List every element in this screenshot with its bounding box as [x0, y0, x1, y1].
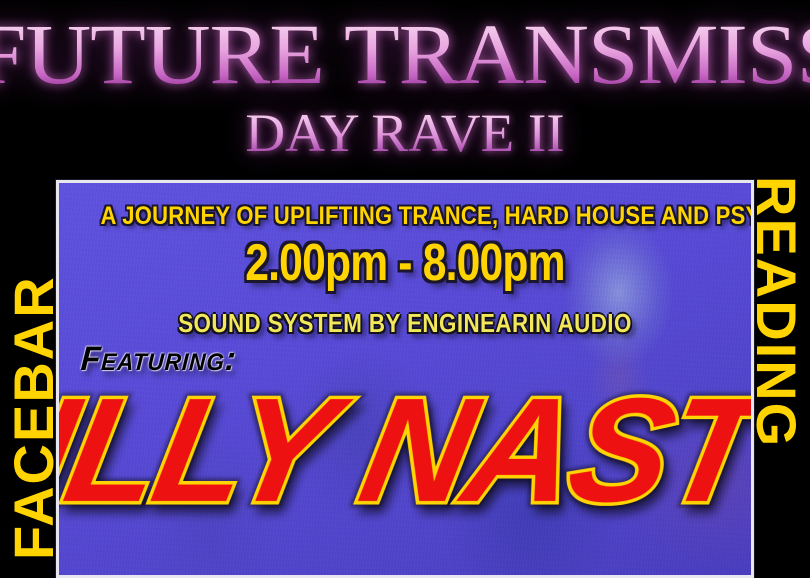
venue-strip-right: READING: [752, 160, 810, 578]
headline-artist-name: BILLY NASTY: [59, 373, 751, 529]
sound-system-credit: SOUND SYSTEM BY ENGINEARIN AUDIO: [107, 309, 702, 337]
venue-strip-left: FACEBAR: [0, 160, 58, 578]
event-subtitle: DAY RAVE II: [0, 104, 810, 162]
genre-tagline: A JOURNEY OF UPLIFTING TRANCE, HARD HOUS…: [101, 203, 710, 229]
venue-city-label: READING: [752, 176, 804, 576]
event-times: 2.00pm - 8.00pm: [121, 235, 688, 291]
venue-name-label: FACEBAR: [6, 160, 58, 560]
featuring-label: Featuring:: [80, 341, 238, 377]
headline-artist-block: BILLY NASTY BILLY NASTY: [59, 373, 751, 575]
rave-flyer: FUTURE TRANSMISSIONS DAY RAVE II FACEBAR…: [0, 0, 810, 578]
content-panel-frame: A JOURNEY OF UPLIFTING TRANCE, HARD HOUS…: [56, 180, 754, 578]
content-panel: A JOURNEY OF UPLIFTING TRANCE, HARD HOUS…: [59, 183, 751, 575]
page-title: FUTURE TRANSMISSIONS: [0, 8, 810, 100]
title-block: FUTURE TRANSMISSIONS DAY RAVE II: [0, 0, 810, 178]
